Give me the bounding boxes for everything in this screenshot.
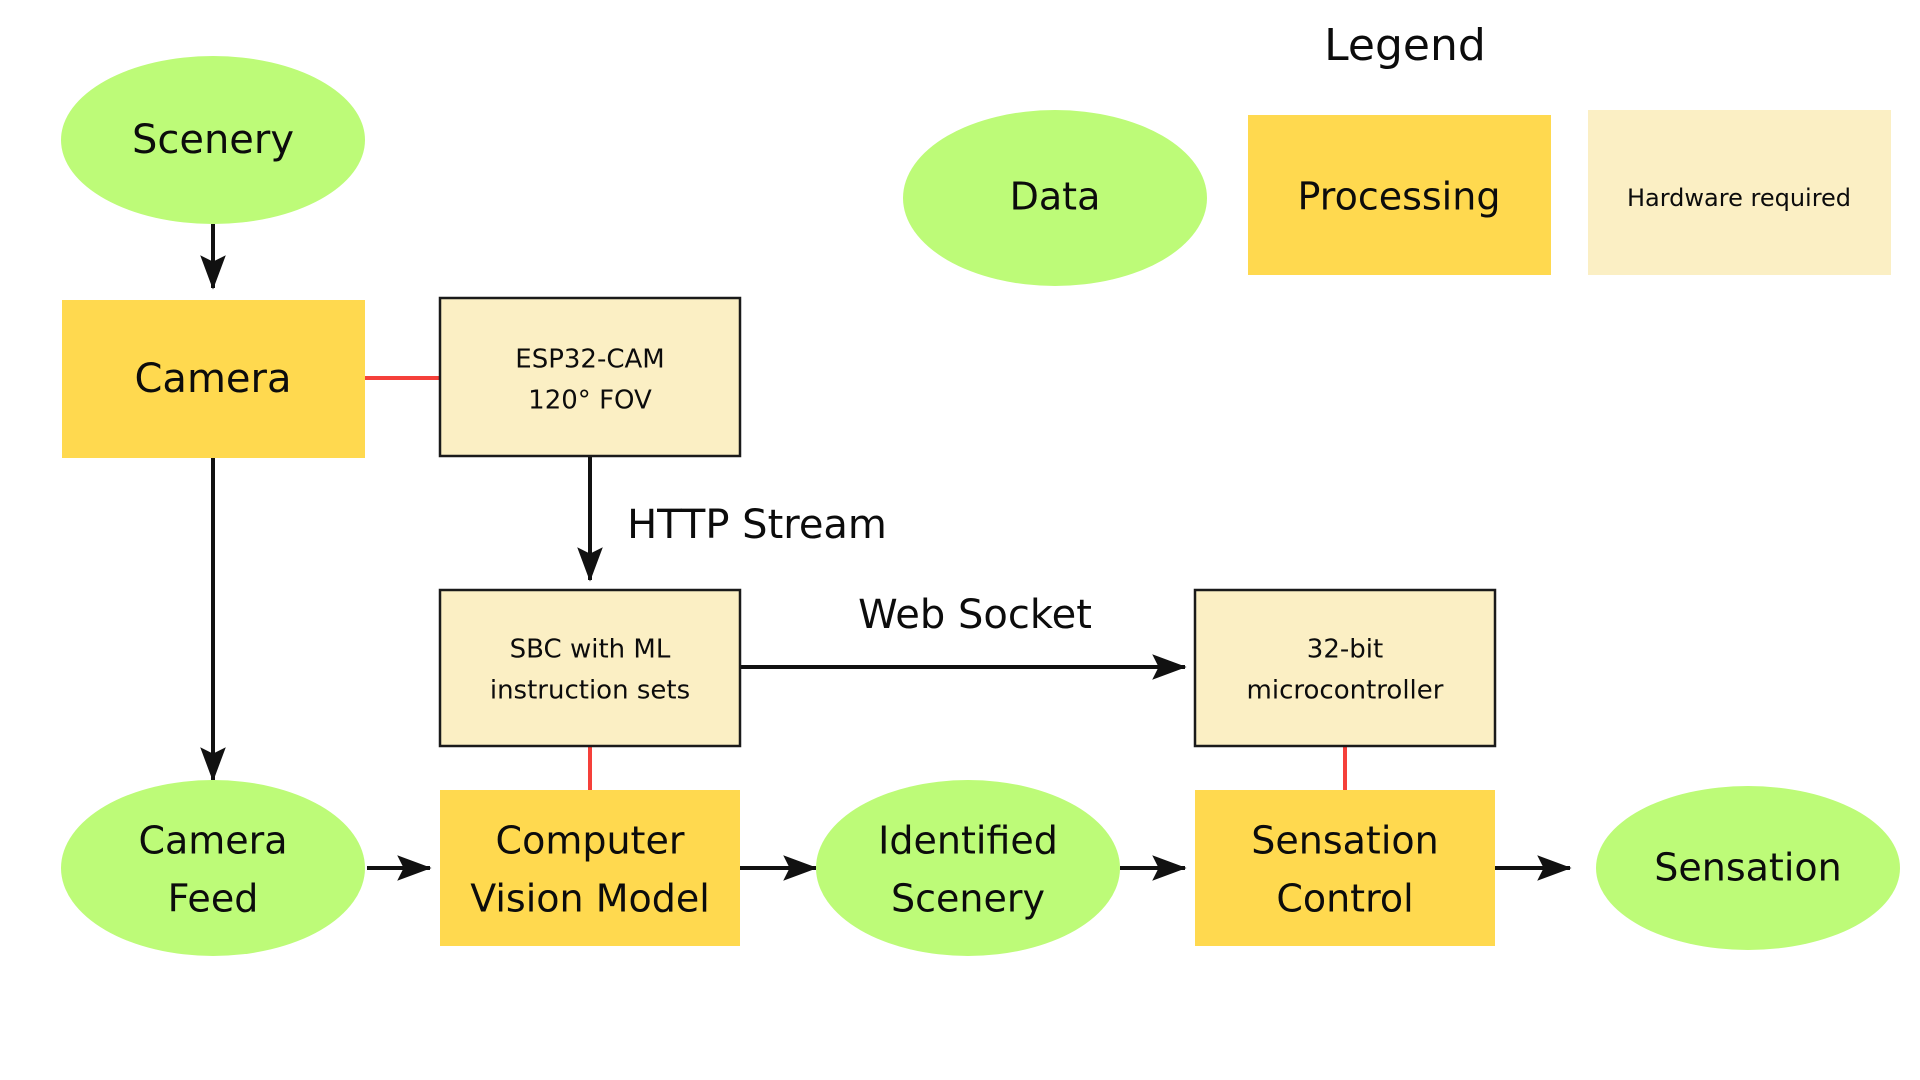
node-sensation-control-shape [1195, 790, 1495, 946]
node-identified-scenery-label-line1: Identified [878, 819, 1058, 863]
node-camera-feed-label-line2: Feed [168, 877, 259, 921]
node-microcontroller-label-line2: microcontroller [1247, 676, 1444, 706]
legend-item-data[interactable]: Data [903, 110, 1207, 286]
legend-processing-label: Processing [1298, 175, 1501, 219]
node-sensation-label: Sensation [1654, 846, 1841, 890]
node-scenery-label: Scenery [132, 117, 294, 163]
node-identified-scenery-shape [816, 780, 1120, 956]
edge-label-web-socket: Web Socket [858, 592, 1092, 638]
node-microcontroller[interactable]: 32-bit microcontroller [1195, 590, 1495, 746]
node-sbc-label-line2: instruction sets [490, 676, 690, 706]
node-computer-vision-model[interactable]: Computer Vision Model [440, 790, 740, 946]
node-sensation-control[interactable]: Sensation Control [1195, 790, 1495, 946]
node-esp32-cam-label-line1: ESP32-CAM [515, 345, 664, 375]
node-scenery[interactable]: Scenery [61, 56, 365, 224]
node-sbc-label-line1: SBC with ML [510, 635, 671, 665]
node-camera-feed-shape [61, 780, 365, 956]
node-sensation-control-label-line1: Sensation [1251, 819, 1438, 863]
legend-title: Legend [1324, 20, 1486, 71]
node-esp32-cam-label-line2: 120° FOV [528, 386, 652, 416]
node-camera-feed-label-line1: Camera [138, 819, 287, 863]
legend-hardware-label: Hardware required [1627, 184, 1851, 212]
node-camera[interactable]: Camera [62, 300, 365, 458]
node-sensation-control-label-line2: Control [1276, 877, 1413, 921]
node-computer-vision-model-label-line1: Computer [496, 819, 685, 863]
node-microcontroller-label-line1: 32-bit [1307, 635, 1383, 665]
node-sbc[interactable]: SBC with ML instruction sets [440, 590, 740, 746]
node-computer-vision-model-shape [440, 790, 740, 946]
legend-item-processing[interactable]: Processing [1248, 115, 1551, 275]
node-identified-scenery-label-line2: Scenery [891, 877, 1045, 921]
node-esp32-cam-shape [440, 298, 740, 456]
legend: Legend Data Processing Hardware required [903, 20, 1891, 286]
node-identified-scenery[interactable]: Identified Scenery [816, 780, 1120, 956]
edge-esp32-to-sbc: HTTP Stream [590, 455, 887, 580]
node-sbc-shape [440, 590, 740, 746]
node-microcontroller-shape [1195, 590, 1495, 746]
node-computer-vision-model-label-line2: Vision Model [470, 877, 710, 921]
legend-item-hardware[interactable]: Hardware required [1588, 110, 1891, 275]
legend-data-label: Data [1010, 175, 1101, 219]
flowchart-svg: HTTP Stream Web Socket [0, 0, 1920, 1080]
node-camera-label: Camera [135, 356, 292, 402]
node-camera-feed[interactable]: Camera Feed [61, 780, 365, 956]
edge-label-http-stream: HTTP Stream [627, 502, 887, 548]
node-sensation[interactable]: Sensation [1596, 786, 1900, 950]
diagram-canvas: HTTP Stream Web Socket [0, 0, 1920, 1080]
node-esp32-cam[interactable]: ESP32-CAM 120° FOV [440, 298, 740, 456]
edge-sbc-to-mcu: Web Socket [740, 592, 1185, 667]
